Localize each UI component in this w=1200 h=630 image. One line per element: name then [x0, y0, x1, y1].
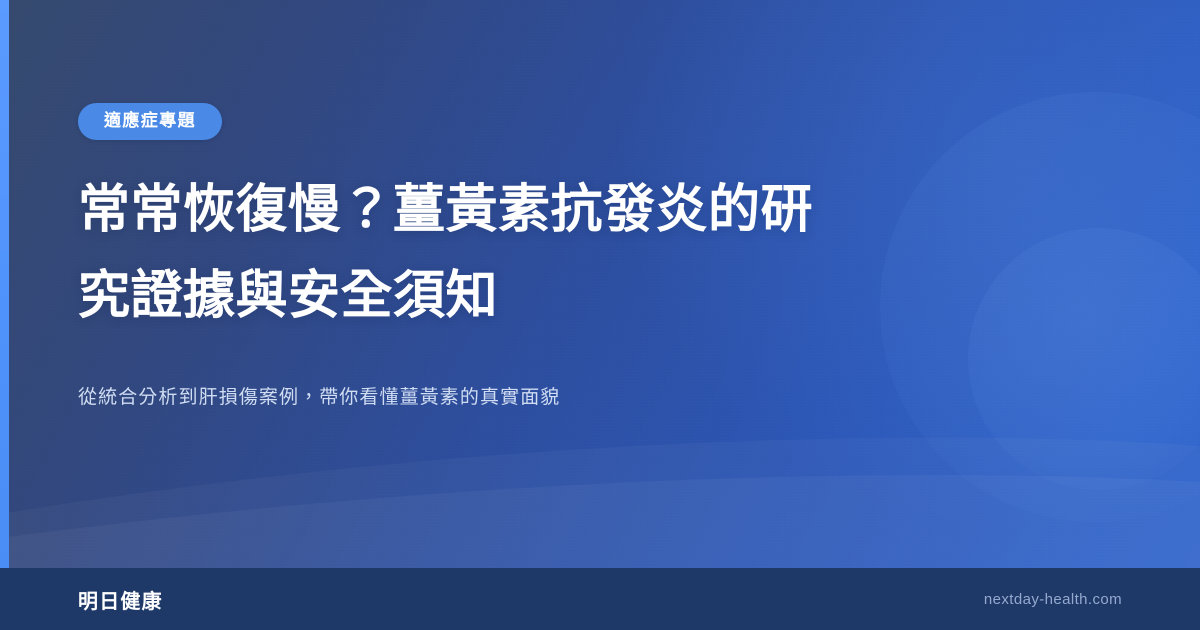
social-share-card: 適應症專題 常常恢復慢？薑黃素抗發炎的研 究證據與安全須知 從統合分析到肝損傷案…	[0, 0, 1200, 630]
card-content: 適應症專題 常常恢復慢？薑黃素抗發炎的研 究證據與安全須知 從統合分析到肝損傷案…	[78, 0, 978, 412]
site-url: nextday-health.com	[984, 591, 1122, 608]
page-subtitle: 從統合分析到肝損傷案例，帶你看懂薑黃素的真實面貌	[78, 383, 898, 412]
page-title-line-1: 常常恢復慢？薑黃素抗發炎的研	[78, 181, 813, 239]
card-footer: 明日健康 nextday-health.com	[0, 568, 1200, 630]
brand-name: 明日健康	[78, 585, 163, 614]
category-badge: 適應症專題	[78, 103, 222, 140]
page-title-line-2: 究證據與安全須知	[78, 267, 498, 325]
left-accent-bar	[0, 0, 9, 568]
inner-circle-shape	[968, 228, 1200, 490]
page-title: 常常恢復慢？薑黃素抗發炎的研 究證據與安全須知	[78, 167, 908, 339]
wave-shape-front	[0, 464, 1200, 568]
wave-shape-back	[0, 418, 1200, 568]
